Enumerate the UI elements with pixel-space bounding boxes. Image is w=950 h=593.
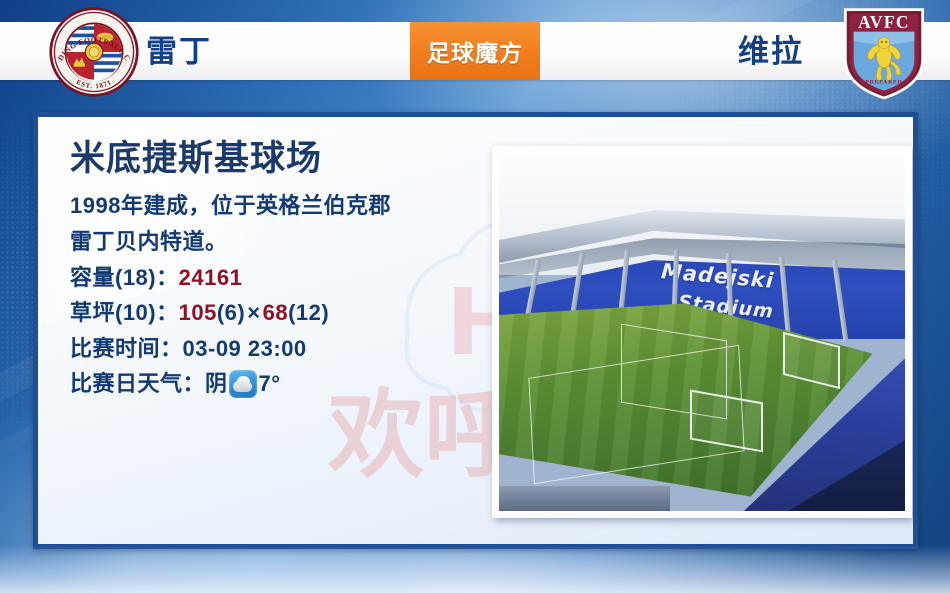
weather-label: 比赛日天气： xyxy=(70,366,205,402)
site-logo-text: 足球魔方 xyxy=(427,34,523,68)
stadium-title: 米底捷斯基球场 xyxy=(70,139,490,179)
pitch-length-rank: (6) xyxy=(217,300,245,325)
app-background: READING FOOTBALL CLUB EST. 1871 雷丁 足球魔方 … xyxy=(0,0,950,593)
reading-fc-crest[interactable]: READING FOOTBALL CLUB EST. 1871 xyxy=(48,6,140,98)
weather-row: 比赛日天气：阴7° xyxy=(70,366,490,402)
multiply-symbol: × xyxy=(245,300,262,325)
photo-foreground-barrier xyxy=(499,486,670,511)
aston-villa-crest[interactable]: AVFC PREPARED xyxy=(838,4,930,100)
match-time-value: 03-09 23:00 xyxy=(183,336,307,361)
capacity-row: 容量(18)：24161 xyxy=(70,260,490,296)
stadium-description-line-1: 1998年建成，位于英格兰伯克郡 xyxy=(70,188,490,224)
stadium-info-panel: H H .com 欢呼 米底捷斯基球场 1998年建成，位于英格兰伯克郡 雷丁贝… xyxy=(33,112,918,549)
cloudy-icon xyxy=(229,370,257,398)
pitch-label: 草坪(10)： xyxy=(70,300,179,325)
weather-temperature: 7° xyxy=(259,366,281,402)
header: READING FOOTBALL CLUB EST. 1871 雷丁 足球魔方 … xyxy=(0,0,950,102)
stadium-photo: Madejski Stadium xyxy=(499,153,905,511)
pitch-size-row: 草坪(10)：105(6)×68(12) xyxy=(70,295,490,331)
capacity-label: 容量(18)： xyxy=(70,265,179,290)
stadium-photo-frame[interactable]: Madejski Stadium xyxy=(492,146,912,518)
match-time-row: 比赛时间：03-09 23:00 xyxy=(70,331,490,367)
pitch-width-rank: (12) xyxy=(288,300,329,325)
home-team-name: 雷丁 xyxy=(146,36,212,67)
bottom-glow xyxy=(0,545,950,593)
away-team-name: 维拉 xyxy=(738,36,804,67)
svg-text:AVFC: AVFC xyxy=(858,12,910,32)
pitch-length: 105 xyxy=(179,300,217,325)
stadium-description-line-2: 雷丁贝内特道。 xyxy=(70,224,490,260)
stadium-info-text: 米底捷斯基球场 1998年建成，位于英格兰伯克郡 雷丁贝内特道。 容量(18)：… xyxy=(70,139,490,402)
capacity-value: 24161 xyxy=(179,265,243,290)
match-time-label: 比赛时间： xyxy=(70,336,183,361)
weather-condition: 阴 xyxy=(205,366,228,402)
svg-text:PREPARED: PREPARED xyxy=(866,79,903,85)
site-logo[interactable]: 足球魔方 xyxy=(410,22,540,80)
pitch-width: 68 xyxy=(263,300,288,325)
